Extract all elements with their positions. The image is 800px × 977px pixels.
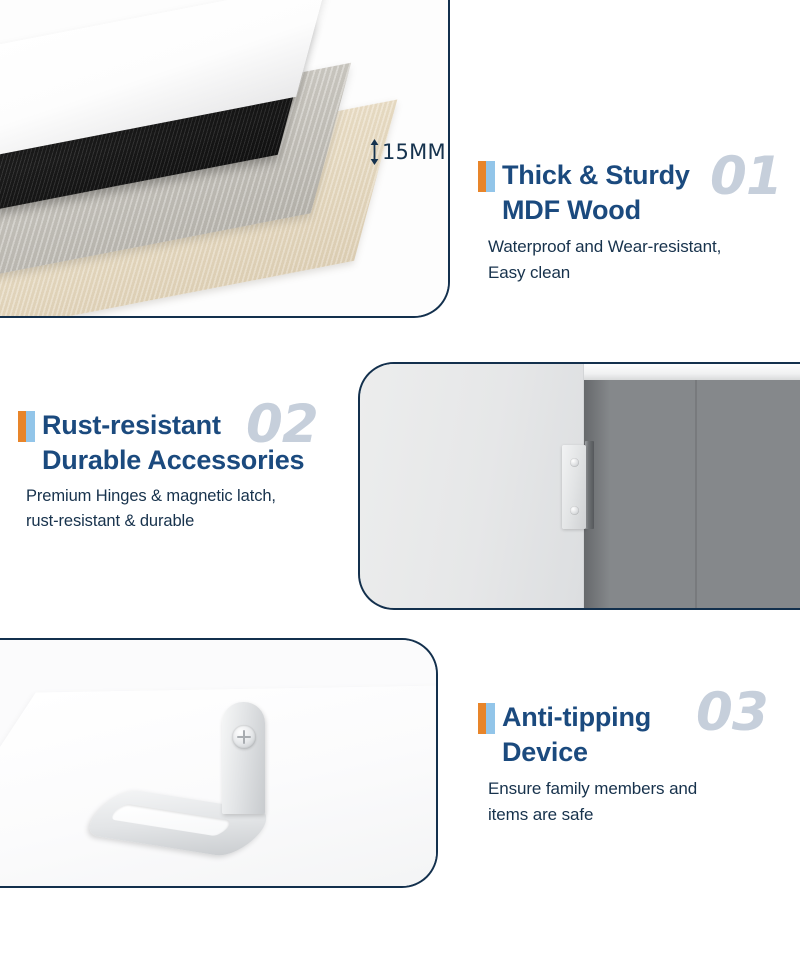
- cabinet-door: [360, 364, 584, 608]
- feature-three-image-panel: [0, 638, 438, 888]
- feature-one-heading-row: Thick & Sturdy MDF Wood: [478, 158, 788, 227]
- feature-two-desc-line1: Premium Hinges & magnetic latch,: [26, 484, 368, 509]
- accent-marker-icon: [478, 161, 495, 192]
- feature-three-title-line1: Anti-tipping: [502, 700, 651, 735]
- feature-two-heading-row: Rust-resistant Durable Accessories: [18, 408, 368, 477]
- hinge-screw-bottom: [570, 506, 579, 515]
- feature-three-title-line2: Device: [502, 735, 651, 770]
- accent-marker-icon: [18, 411, 35, 442]
- feature-two-title-line1: Rust-resistant: [42, 408, 304, 443]
- feature-three-description: Ensure family members and items are safe: [488, 776, 788, 827]
- feature-one-title-line2: MDF Wood: [502, 193, 690, 228]
- feature-three-image: [0, 640, 436, 886]
- hinge-plate: [562, 445, 586, 529]
- furniture-panel-surface: [0, 683, 436, 886]
- feature-two-desc-line2: rust-resistant & durable: [26, 509, 368, 534]
- feature-one-description: Waterproof and Wear-resistant, Easy clea…: [488, 234, 788, 285]
- hinge-screw-top: [570, 458, 579, 467]
- feature-two-image: [360, 364, 800, 608]
- feature-two-title-line2: Durable Accessories: [42, 443, 304, 478]
- accent-marker-icon: [478, 703, 495, 734]
- double-arrow-vertical-icon: [369, 139, 380, 165]
- accent-bar-orange: [478, 703, 486, 734]
- feature-one-desc-line2: Easy clean: [488, 260, 788, 286]
- thickness-label: 15MM: [382, 140, 446, 164]
- thickness-annotation: 15MM: [369, 139, 446, 165]
- accent-bar-orange: [18, 411, 26, 442]
- feature-three-desc-line1: Ensure family members and: [488, 776, 788, 802]
- accent-bar-orange: [478, 161, 486, 192]
- infographic-page: 15MM 01 Thick & Sturdy MDF Wood Waterpro…: [0, 0, 800, 977]
- hinge-barrel: [585, 441, 594, 529]
- feature-two-text-block: 02 Rust-resistant Durable Accessories Pr…: [18, 408, 368, 534]
- feature-three-desc-line2: items are safe: [488, 802, 788, 828]
- feature-two-description: Premium Hinges & magnetic latch, rust-re…: [26, 484, 368, 534]
- feature-one-text-block: 01 Thick & Sturdy MDF Wood Waterproof an…: [478, 158, 788, 285]
- feature-three-heading-row: Anti-tipping Device: [478, 700, 788, 769]
- feature-one-title-line1: Thick & Sturdy: [502, 158, 690, 193]
- feature-one-desc-line1: Waterproof and Wear-resistant,: [488, 234, 788, 260]
- feature-three-text-block: 03 Anti-tipping Device Ensure family mem…: [478, 700, 788, 827]
- bracket-vertical-arm: [222, 702, 265, 814]
- bracket-screw-icon: [232, 725, 256, 749]
- cabinet-body-seam: [695, 380, 697, 608]
- feature-two-image-panel: [358, 362, 800, 610]
